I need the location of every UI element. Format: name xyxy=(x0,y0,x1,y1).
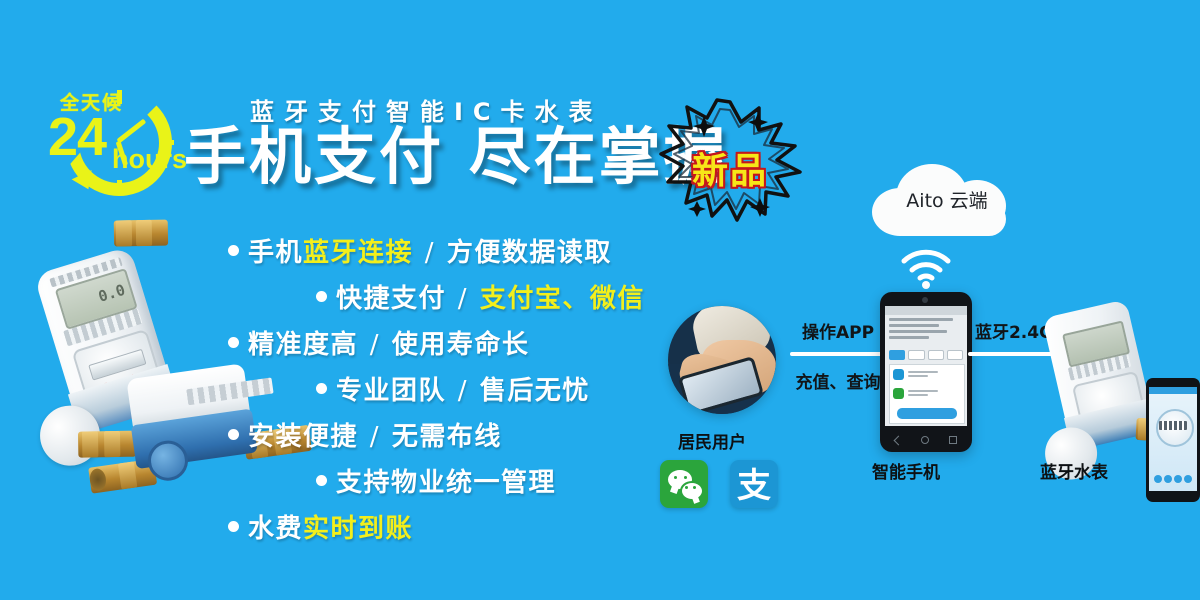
feature-list: 手机蓝牙连接 / 方便数据读取 快捷支付 / 支付宝、微信 精准度高 / 使用寿… xyxy=(228,232,698,554)
badge-24-hours: 全天候 24 hours xyxy=(44,82,184,207)
bullet-dot-icon xyxy=(228,429,239,440)
cloud-label: Aito 云端 xyxy=(862,186,1032,213)
bullet-dot-icon xyxy=(316,383,327,394)
new-product-burst-badge: 新品 xyxy=(655,98,805,223)
banner-headline: 手机支付 尽在掌握 xyxy=(184,124,729,190)
meter-app-screen xyxy=(1149,387,1197,491)
feature-text-2: 快捷支付 / 支付宝、微信 xyxy=(336,278,645,315)
meter-app-phone xyxy=(1146,378,1200,502)
pipe-opening xyxy=(88,468,107,492)
wechat-pay-icon[interactable] xyxy=(660,460,708,508)
bullet-dot-icon xyxy=(228,521,239,532)
bullet-dot-icon xyxy=(228,245,239,256)
phone-app-titlebar xyxy=(885,306,967,315)
clock-tick-bottom xyxy=(117,180,122,194)
feature-item-3: 精准度高 / 使用寿命长 xyxy=(228,324,698,361)
new-product-label: 新品 xyxy=(655,142,805,194)
meter-app-titlebar xyxy=(1149,387,1197,394)
meter-caption: 蓝牙水表 xyxy=(1040,458,1108,483)
wifi-icon xyxy=(898,248,954,290)
feature-item-4: 专业团队 / 售后无忧 xyxy=(316,370,698,407)
resident-user-photo xyxy=(668,306,776,414)
feature-text-7: 水费实时到账 xyxy=(248,508,413,545)
phone-screen xyxy=(885,306,967,426)
link-label-recharge-query: 充值、查询 xyxy=(786,368,890,393)
feature-item-6: 支持物业统一管理 xyxy=(316,462,698,499)
payment-icons-row: 支 xyxy=(660,460,778,508)
user-caption: 居民用户 xyxy=(678,428,746,453)
phone-payment-method-card xyxy=(889,364,965,424)
feature-text-4: 专业团队 / 售后无忧 xyxy=(336,370,590,407)
phone-camera-icon xyxy=(922,297,928,303)
phone-confirm-button[interactable] xyxy=(897,408,957,419)
phone-account-info xyxy=(889,318,963,342)
alipay-icon[interactable]: 支 xyxy=(730,460,778,508)
bullet-dot-icon xyxy=(316,291,327,302)
phone-caption: 智能手机 xyxy=(872,458,940,483)
connector-line-left xyxy=(790,352,886,356)
cloud-server-node: Aito 云端 xyxy=(862,158,1032,240)
badge-24-unit: hours xyxy=(112,144,187,175)
feature-text-5: 安装便捷 / 无需布线 xyxy=(248,416,502,453)
phone-payment-option-wechat[interactable] xyxy=(890,384,964,403)
feature-text-3: 精准度高 / 使用寿命长 xyxy=(248,324,529,361)
phone-nav-bar[interactable] xyxy=(885,434,967,446)
meter-pipe-top xyxy=(114,220,168,247)
phone-payment-option-alipay[interactable] xyxy=(890,365,964,384)
bullet-dot-icon xyxy=(228,337,239,348)
feature-item-7: 水费实时到账 xyxy=(228,508,698,545)
phone-amount-buttons[interactable] xyxy=(889,350,963,360)
feature-text-1: 手机蓝牙连接 / 方便数据读取 xyxy=(248,232,612,269)
feature-item-2: 快捷支付 / 支付宝、微信 xyxy=(316,278,698,315)
meter-app-actions[interactable] xyxy=(1154,475,1192,483)
feature-item-1: 手机蓝牙连接 / 方便数据读取 xyxy=(228,232,698,269)
smartphone-device xyxy=(880,292,972,452)
feature-item-5: 安装便捷 / 无需布线 xyxy=(228,416,698,453)
badge-24-number: 24 xyxy=(48,110,106,164)
link-label-operate-app: 操作APP xyxy=(786,318,890,343)
banner-canvas: 全天候 24 hours 蓝牙支付智能IC卡水表 手机支付 尽在掌握 新品 0.… xyxy=(0,0,1200,600)
meter-lcd-value: 0.0 xyxy=(96,281,127,306)
meter-app-digits xyxy=(1159,421,1187,430)
feature-text-6: 支持物业统一管理 xyxy=(336,462,556,499)
bullet-dot-icon xyxy=(316,475,327,486)
